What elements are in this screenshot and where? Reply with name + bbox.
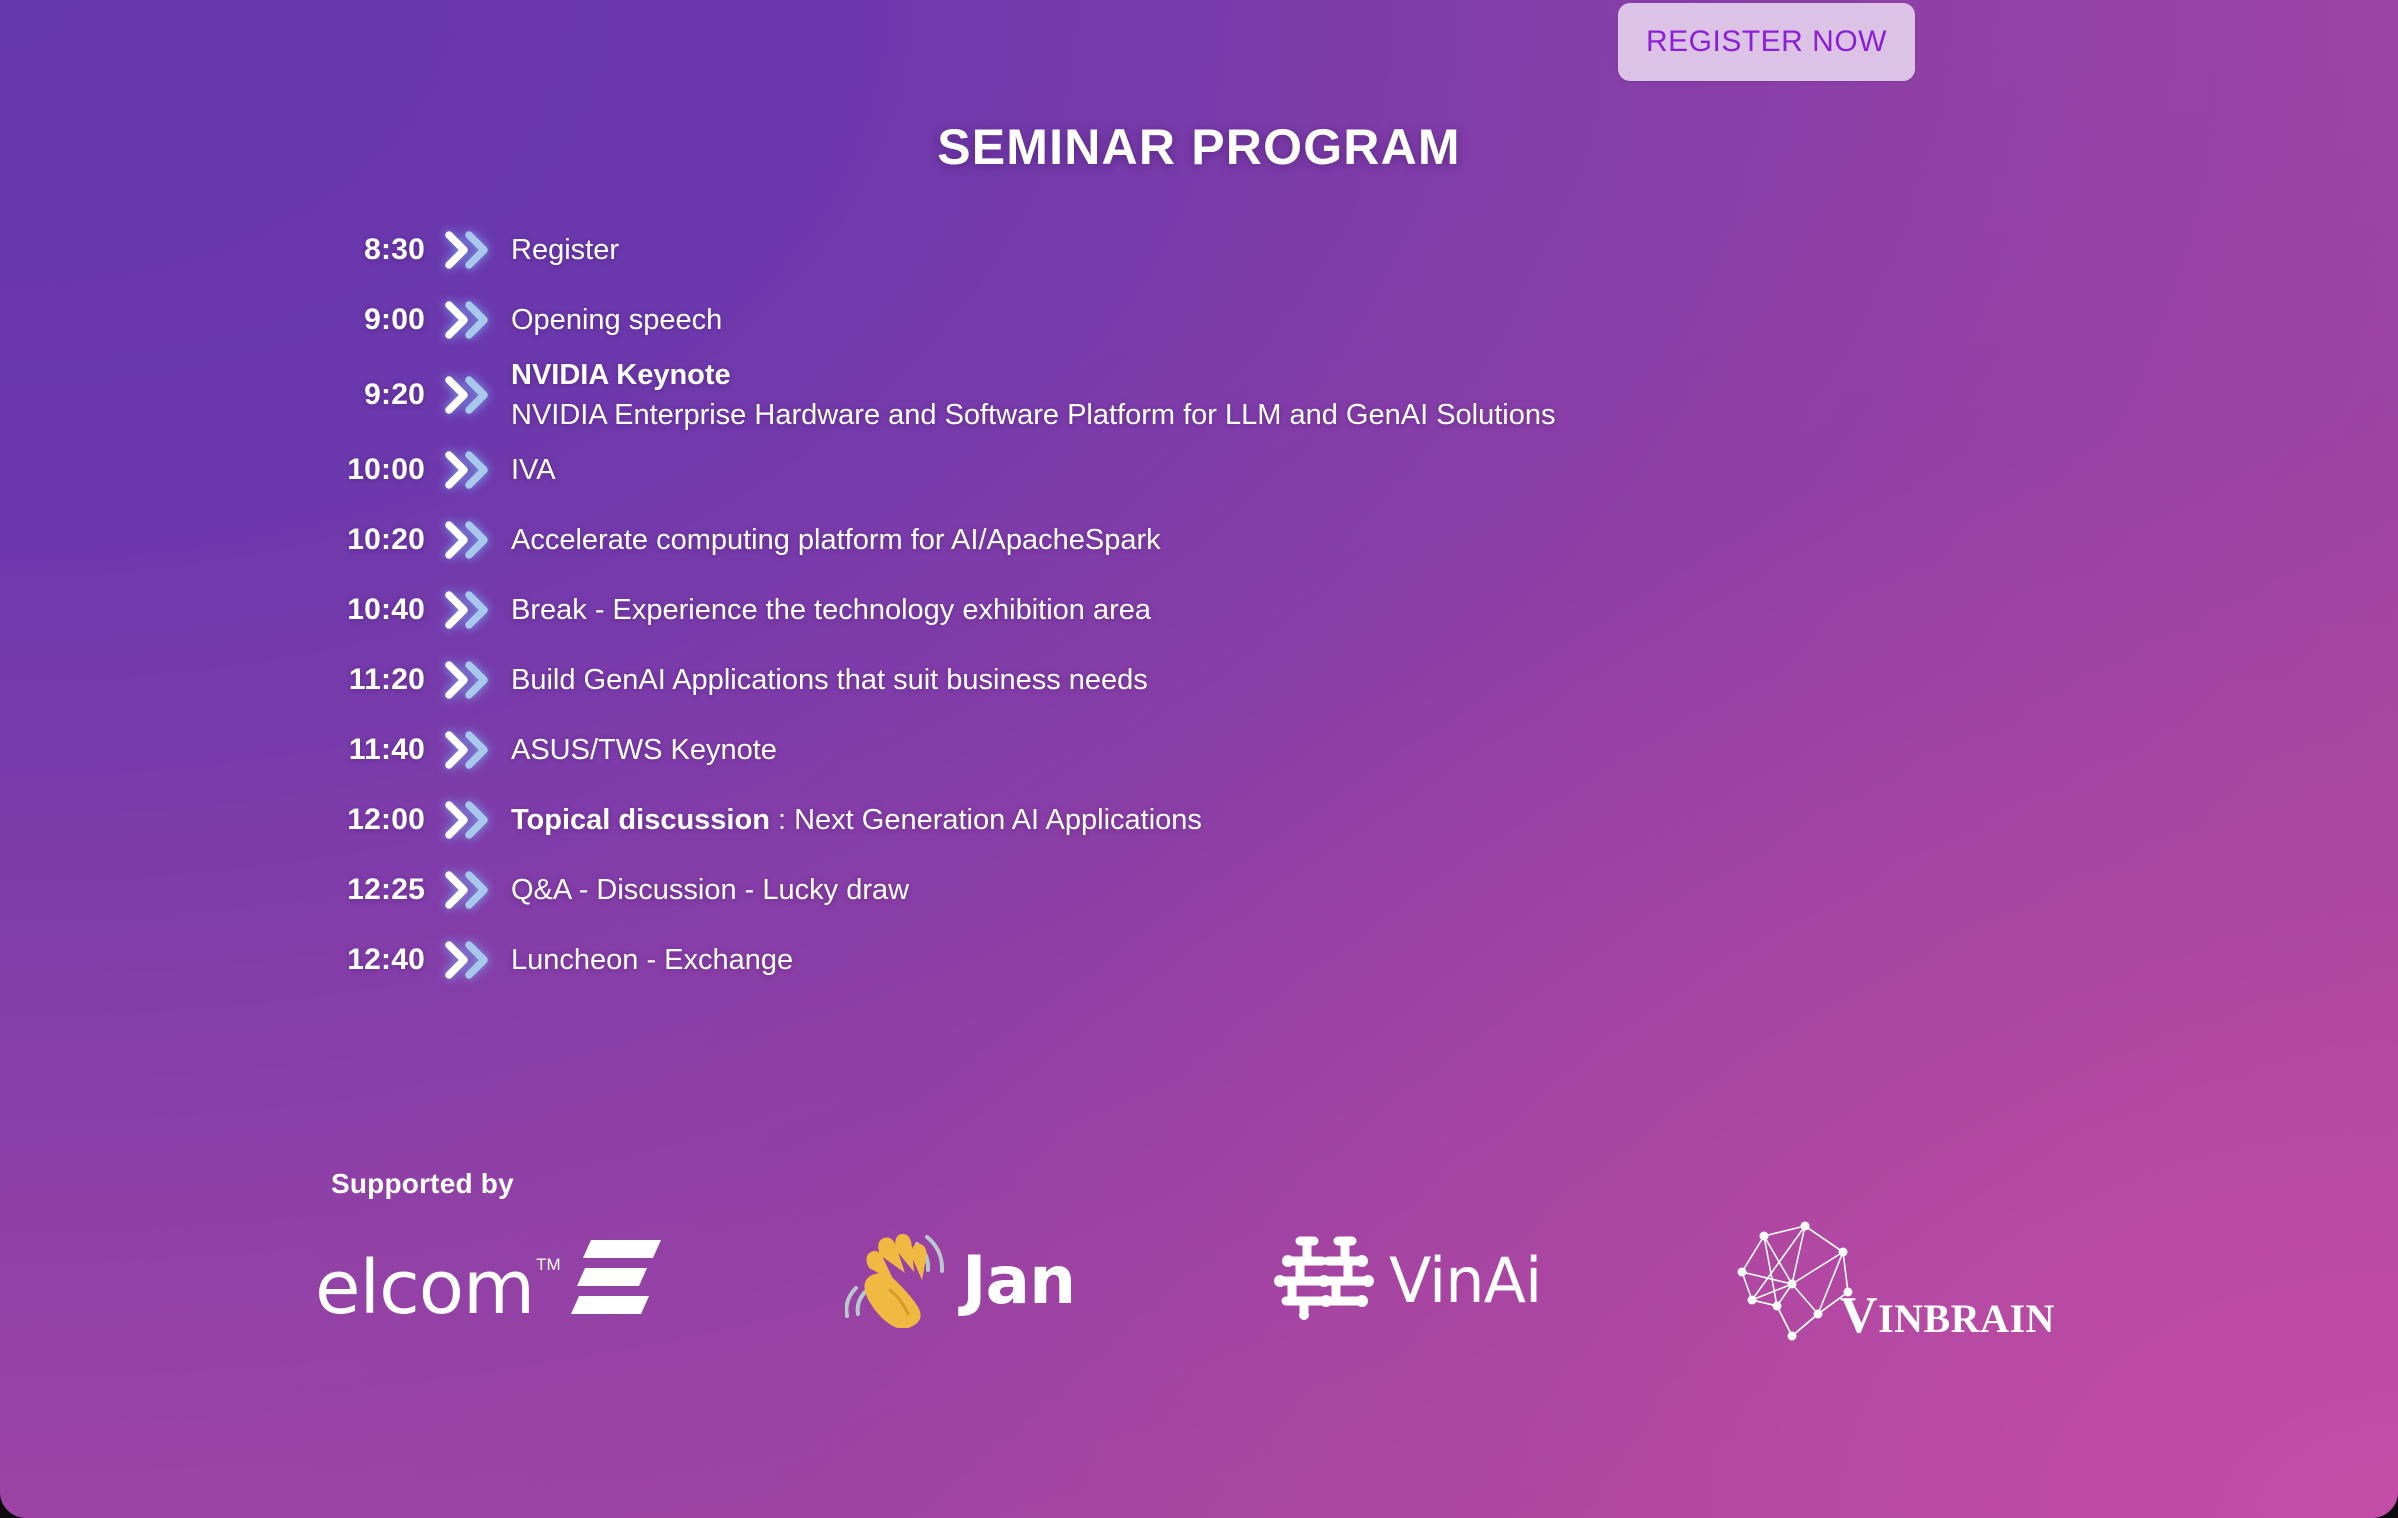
schedule-body: Topical discussion : Next Generation AI … [511, 800, 2000, 840]
register-now-button[interactable]: REGISTER NOW [1618, 3, 1915, 81]
schedule-time: 11:20 [300, 663, 425, 697]
double-chevron-right-icon [425, 450, 511, 490]
double-chevron-right-icon [425, 230, 511, 270]
schedule-time: 10:20 [300, 523, 425, 557]
sponsor-logo-elcom: elcom TM [315, 1215, 661, 1345]
schedule-time: 8:30 [300, 233, 425, 267]
double-chevron-right-icon [425, 730, 511, 770]
schedule-description: Register [511, 234, 619, 266]
schedule-description: Luncheon - Exchange [511, 944, 793, 976]
sponsor-logo-vinbrain: VINBRAIN [1730, 1215, 2083, 1345]
schedule-body: Break - Experience the technology exhibi… [511, 590, 2000, 630]
schedule-time: 12:40 [300, 943, 425, 977]
schedule-body: ASUS/TWS Keynote [511, 730, 2000, 770]
schedule-description: ASUS/TWS Keynote [511, 734, 777, 766]
schedule-time: 12:25 [300, 873, 425, 907]
schedule-description: Opening speech [511, 304, 722, 336]
schedule-description: NVIDIA Enterprise Hardware and Software … [511, 399, 1556, 431]
schedule-description: : Next Generation AI Applications [770, 804, 1202, 836]
elcom-e-mark-icon [569, 1238, 661, 1323]
schedule-heading: NVIDIA Keynote [511, 355, 2000, 395]
double-chevron-right-icon [425, 590, 511, 630]
schedule-description: Build GenAI Applications that suit busin… [511, 664, 1148, 696]
schedule-row: 10:00IVA [300, 435, 2000, 505]
schedule-body: Luncheon - Exchange [511, 940, 2000, 980]
page-title: SEMINAR PROGRAM [0, 118, 2398, 176]
double-chevron-right-icon [425, 520, 511, 560]
sponsor-logo-vinai: VinAi [1270, 1215, 1541, 1345]
schedule-body: Accelerate computing platform for AI/Apa… [511, 520, 2000, 560]
vinbrain-initial: V [1840, 1287, 1878, 1344]
trademark-symbol: TM [536, 1255, 561, 1275]
schedule-description: Accelerate computing platform for AI/Apa… [511, 524, 1161, 556]
schedule-description: Break - Experience the technology exhibi… [511, 594, 1151, 626]
double-chevron-right-icon [425, 660, 511, 700]
double-chevron-right-icon [425, 940, 511, 980]
schedule-time: 11:40 [300, 733, 425, 767]
elcom-wordmark: elcom [315, 1254, 534, 1322]
schedule-body: Register [511, 230, 2000, 270]
schedule-time: 10:00 [300, 453, 425, 487]
schedule-description: IVA [511, 454, 556, 486]
double-chevron-right-icon [425, 375, 511, 415]
schedule-row: 9:20NVIDIA KeynoteNVIDIA Enterprise Hard… [300, 355, 2000, 435]
vinai-circuit-mark-icon [1270, 1229, 1375, 1332]
schedule-description: Q&A - Discussion - Lucky draw [511, 874, 909, 906]
schedule-row: 12:00Topical discussion : Next Generatio… [300, 785, 2000, 855]
waving-hand-emoji-icon [845, 1228, 950, 1333]
double-chevron-right-icon [425, 870, 511, 910]
supported-by-label: Supported by [331, 1168, 514, 1200]
vinbrain-rest: INBRAIN [1878, 1296, 2055, 1341]
schedule-row: 9:00Opening speech [300, 285, 2000, 355]
schedule-row: 11:20Build GenAI Applications that suit … [300, 645, 2000, 715]
schedule-inline-strong: Topical discussion [511, 804, 770, 836]
jan-wordmark: Jan [962, 1242, 1075, 1319]
schedule-time: 9:20 [300, 378, 425, 412]
sponsor-logo-jan: Jan [845, 1215, 1075, 1345]
schedule-body: Build GenAI Applications that suit busin… [511, 660, 2000, 700]
sponsor-logo-row: elcom TM [300, 1215, 2300, 1345]
double-chevron-right-icon [425, 300, 511, 340]
schedule-row: 10:20Accelerate computing platform for A… [300, 505, 2000, 575]
schedule-body: IVA [511, 450, 2000, 490]
schedule-row: 11:40ASUS/TWS Keynote [300, 715, 2000, 785]
schedule-row: 8:30Register [300, 215, 2000, 285]
double-chevron-right-icon [425, 800, 511, 840]
schedule-row: 12:40Luncheon - Exchange [300, 925, 2000, 995]
schedule-time: 10:40 [300, 593, 425, 627]
schedule-list: 8:30Register9:00Opening speech9:20NVIDIA… [300, 215, 2000, 995]
vinai-wordmark: VinAi [1389, 1244, 1541, 1317]
schedule-body: Opening speech [511, 300, 2000, 340]
schedule-row: 10:40Break - Experience the technology e… [300, 575, 2000, 645]
schedule-time: 9:00 [300, 303, 425, 337]
schedule-body: NVIDIA KeynoteNVIDIA Enterprise Hardware… [511, 355, 2000, 435]
schedule-row: 12:25Q&A - Discussion - Lucky draw [300, 855, 2000, 925]
schedule-body: Q&A - Discussion - Lucky draw [511, 870, 2000, 910]
schedule-time: 12:00 [300, 803, 425, 837]
seminar-program-page: REGISTER NOW SEMINAR PROGRAM 8:30Registe… [0, 0, 2398, 1518]
vinbrain-wordmark: VINBRAIN [1840, 1286, 2055, 1345]
